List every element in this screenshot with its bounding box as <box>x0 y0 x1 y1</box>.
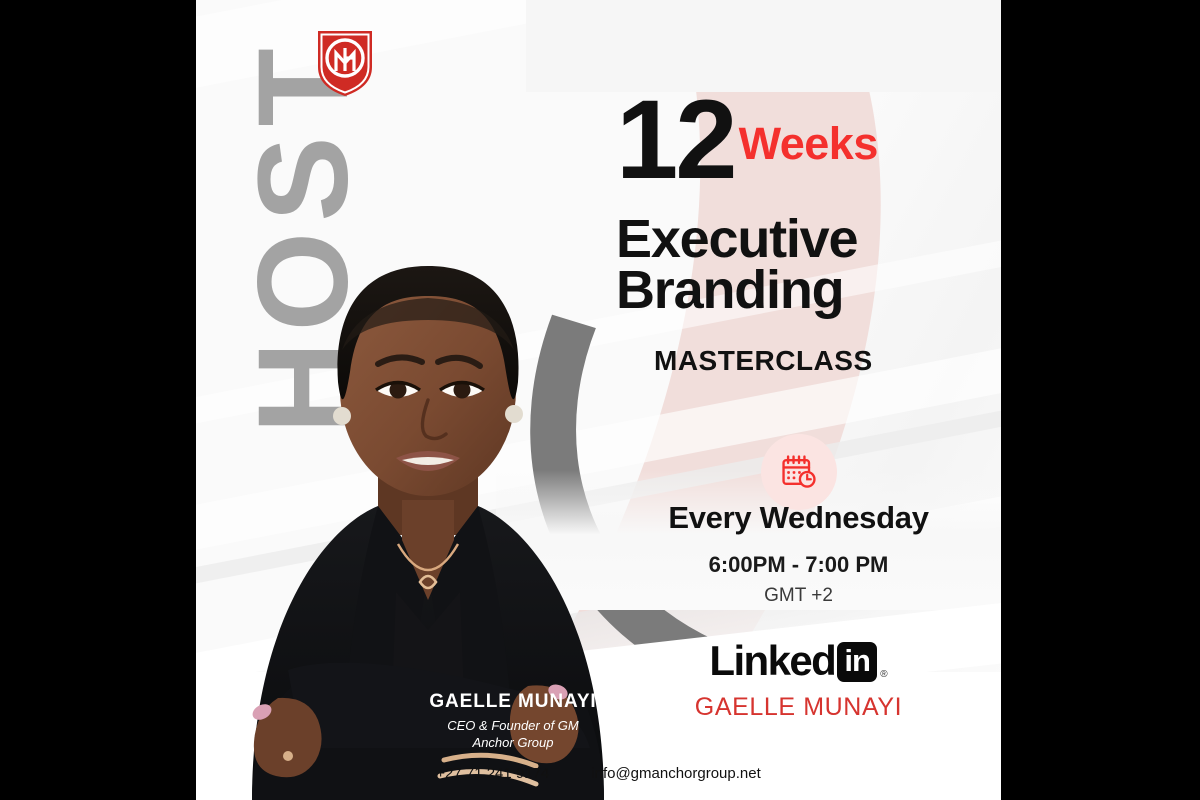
headline-line-2: Branding <box>616 265 857 316</box>
linkedin-in-text: in <box>844 645 870 676</box>
linkedin-in-badge-icon: in <box>837 642 877 682</box>
contact-phone[interactable]: +27 71 241 9174 <box>436 765 549 782</box>
gm-shield-logo-icon <box>314 27 376 99</box>
headline-weeks: Weeks <box>739 121 878 166</box>
headline-line-1: Executive <box>616 214 857 265</box>
headline-subtitle: MASTERCLASS <box>654 345 873 377</box>
presenter-role-line-1: CEO & Founder of GM <box>447 718 579 733</box>
schedule-day: Every Wednesday <box>596 500 1001 536</box>
schedule-time: 6:00PM - 7:00 PM <box>596 552 1001 578</box>
schedule-icon-wrap <box>596 434 1001 510</box>
contact-email[interactable]: info@gmanchorgroup.net <box>591 765 761 782</box>
poster-content-column: 12 Weeks Executive Branding MASTERCLASS <box>596 0 1001 800</box>
presenter-caption: GAELLE MUNAYI CEO & Founder of GM Anchor… <box>368 691 658 752</box>
schedule-timezone: GMT +2 <box>596 585 1001 607</box>
presenter-role-line-2: Anchor Group <box>473 735 554 750</box>
linkedin-logo[interactable]: Linked in ® <box>596 640 1001 682</box>
presenter-role: CEO & Founder of GM Anchor Group <box>368 717 658 752</box>
screenshot-stage: HOST <box>0 0 1200 800</box>
calendar-clock-icon <box>761 434 837 510</box>
linkedin-wordmark: Linked <box>709 640 835 682</box>
presenter-name: GAELLE MUNAYI <box>368 691 658 713</box>
footer-contacts: +27 71 241 9174 info@gmanchorgroup.net <box>196 765 1001 782</box>
promo-poster: HOST <box>196 0 1001 800</box>
headline-number-row: 12 Weeks <box>616 88 878 191</box>
headline-number: 12 <box>616 88 735 191</box>
registered-mark: ® <box>880 669 887 680</box>
headline-title: Executive Branding <box>616 214 857 317</box>
